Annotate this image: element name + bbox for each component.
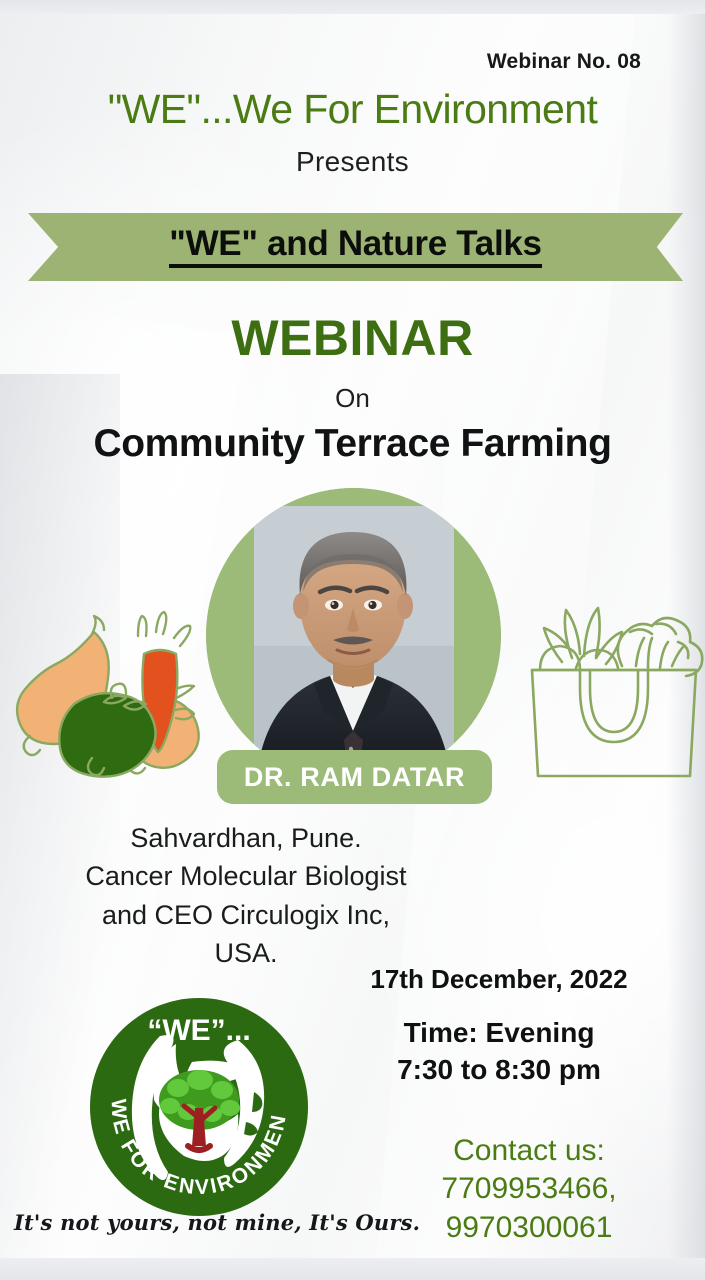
ribbon-banner: "WE" and Nature Talks [28, 213, 683, 281]
contact-phone-2[interactable]: 9970300061 [389, 1209, 669, 1247]
speaker-photo-circle [206, 488, 501, 783]
logo-top-text: “WE”... [147, 1014, 250, 1047]
logo-graphic: “WE”... WE FOR ENVIRONMENT [88, 996, 310, 1218]
event-type-heading: WEBINAR [0, 309, 705, 367]
speaker-block: DR. RAM DATAR [206, 488, 501, 818]
top-chrome-band [0, 0, 705, 14]
contact-label: Contact us: [389, 1132, 669, 1170]
event-time-range: 7:30 to 8:30 pm [339, 1054, 659, 1086]
webinar-topic-title: Community Terrace Farming [0, 422, 705, 466]
bio-line-2: Cancer Molecular Biologist [16, 857, 476, 895]
poster-canvas: Webinar No. 08 "WE"...We For Environment… [0, 14, 705, 1258]
webinar-number-label: Webinar No. 08 [487, 50, 641, 74]
grocery-bag-illustration [518, 570, 705, 782]
on-connector-label: On [0, 383, 705, 414]
we-for-environment-logo: “WE”... WE FOR ENVIRONMENT [88, 996, 310, 1218]
poster-root: Webinar No. 08 "WE"...We For Environment… [0, 0, 705, 1280]
speaker-portrait-illustration [206, 488, 501, 783]
event-date: 17th December, 2022 [339, 964, 659, 995]
contact-block: Contact us: 7709953466, 9970300061 [389, 1132, 669, 1247]
presents-label: Presents [0, 146, 705, 178]
organization-tagline: It's not yours, not mine, It's Ours. [14, 1210, 414, 1235]
bio-line-1: Sahvardhan, Pune. [16, 819, 476, 857]
ribbon-title-text: "WE" and Nature Talks [169, 226, 541, 268]
bio-line-3: and CEO Circulogix Inc, [16, 896, 476, 934]
speaker-name-badge: DR. RAM DATAR [217, 750, 492, 804]
schedule-block: 17th December, 2022 Time: Evening 7:30 t… [339, 964, 659, 1086]
bottom-chrome-band [0, 1258, 705, 1280]
event-time-label: Time: Evening [339, 1017, 659, 1049]
speaker-bio: Sahvardhan, Pune. Cancer Molecular Biolo… [16, 819, 476, 972]
organization-title: "WE"...We For Environment [0, 86, 705, 133]
contact-phone-1[interactable]: 7709953466, [389, 1170, 669, 1208]
vegetable-cluster-illustration [8, 606, 234, 786]
